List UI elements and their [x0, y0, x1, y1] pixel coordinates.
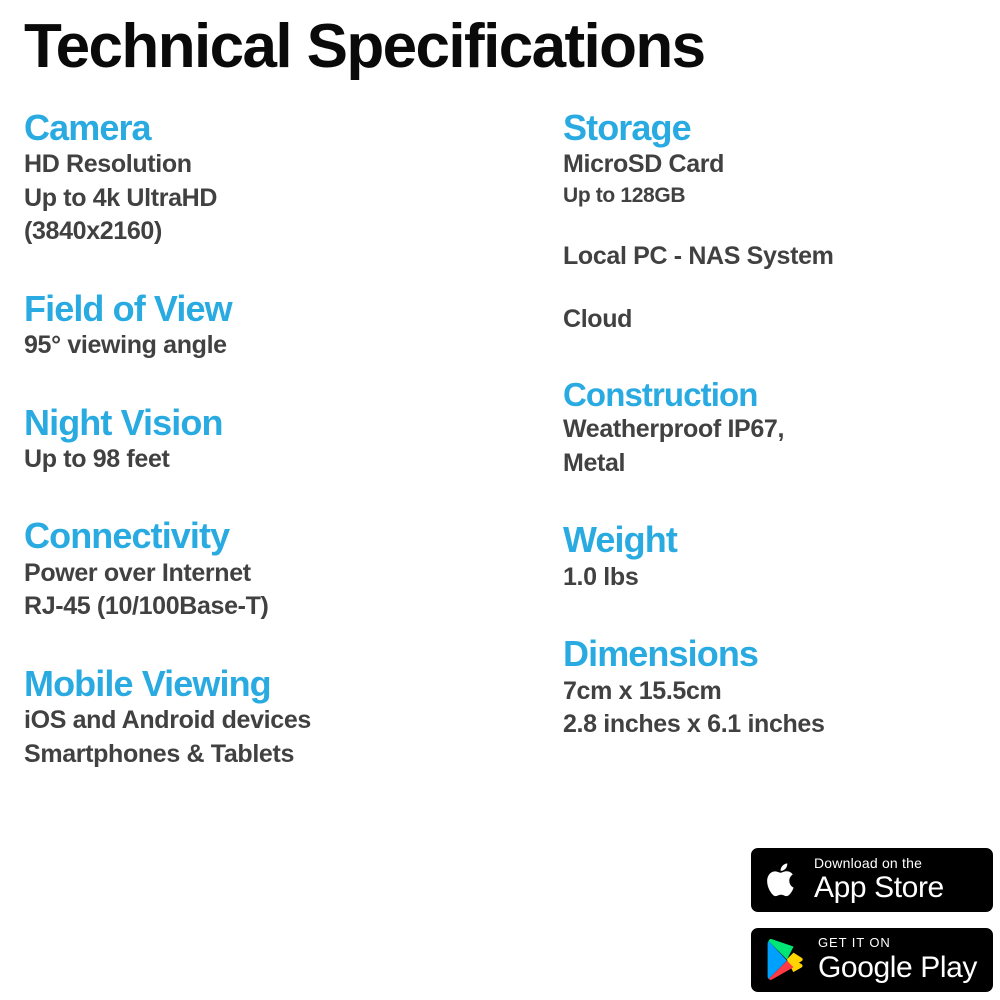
spec-line: Local PC - NAS System: [563, 240, 993, 274]
page-title: Technical Specifications: [24, 14, 705, 79]
spacer: [563, 594, 993, 634]
spec-line: Weatherproof IP67,: [563, 413, 993, 447]
spec-line-sub: Up to 128GB: [563, 182, 993, 210]
spec-line: HD Resolution: [24, 148, 524, 182]
spec-group-mobile-viewing: Mobile Viewing iOS and Android devices S…: [24, 664, 524, 771]
app-store-badge-text: Download on the App Store: [814, 856, 944, 904]
app-store-badge-main-line: App Store: [814, 872, 944, 904]
spec-group-storage: Storage MicroSD Card Up to 128GB Local P…: [563, 108, 993, 337]
spec-line: MicroSD Card: [563, 148, 993, 182]
spec-group-camera: Camera HD Resolution Up to 4k UltraHD (3…: [24, 108, 524, 249]
spec-line: 2.8 inches x 6.1 inches: [563, 708, 993, 742]
left-spec-column: Camera HD Resolution Up to 4k UltraHD (3…: [24, 108, 524, 771]
google-play-badge[interactable]: GET IT ON Google Play: [749, 926, 995, 994]
store-badges: Download on the App Store: [749, 846, 995, 994]
spec-line: Metal: [563, 447, 993, 481]
technical-specifications-page: Technical Specifications Camera HD Resol…: [0, 0, 1000, 1000]
spacer: [563, 273, 993, 303]
spacer: [563, 210, 993, 240]
spacer: [563, 480, 993, 520]
spacer: [24, 476, 524, 516]
spec-line: (3840x2160): [24, 215, 524, 249]
spacer: [24, 249, 524, 289]
spec-group-weight: Weight 1.0 lbs: [563, 520, 993, 594]
google-play-triangle-icon: [765, 938, 805, 982]
spec-line: Power over Internet: [24, 557, 524, 591]
spec-group-dimensions: Dimensions 7cm x 15.5cm 2.8 inches x 6.1…: [563, 634, 993, 741]
spacer: [24, 363, 524, 403]
spec-group-field-of-view: Field of View 95° viewing angle: [24, 289, 524, 363]
spec-line: RJ-45 (10/100Base-T): [24, 590, 524, 624]
app-store-badge-top-line: Download on the: [814, 856, 944, 871]
spec-line: Cloud: [563, 303, 993, 337]
spec-heading-storage: Storage: [563, 108, 993, 148]
spec-heading-camera: Camera: [24, 108, 524, 148]
spec-heading-weight: Weight: [563, 520, 993, 560]
spacer: [563, 337, 993, 377]
spec-line: Up to 98 feet: [24, 443, 524, 477]
spec-heading-connectivity: Connectivity: [24, 516, 524, 556]
spec-heading-mobile-viewing: Mobile Viewing: [24, 664, 524, 704]
spec-heading-field-of-view: Field of View: [24, 289, 524, 329]
google-play-badge-top-line: GET IT ON: [818, 936, 977, 950]
spec-heading-night-vision: Night Vision: [24, 403, 524, 443]
spec-line: Up to 4k UltraHD: [24, 182, 524, 216]
spec-line: iOS and Android devices: [24, 704, 524, 738]
spec-heading-construction: Construction: [563, 377, 993, 414]
spec-group-construction: Construction Weatherproof IP67, Metal: [563, 377, 993, 481]
right-spec-column: Storage MicroSD Card Up to 128GB Local P…: [563, 108, 993, 742]
apple-logo-icon: [765, 858, 801, 902]
google-play-badge-text: GET IT ON Google Play: [818, 936, 977, 983]
spec-group-night-vision: Night Vision Up to 98 feet: [24, 403, 524, 477]
spec-line: 7cm x 15.5cm: [563, 675, 993, 709]
spacer: [24, 624, 524, 664]
spec-group-connectivity: Connectivity Power over Internet RJ-45 (…: [24, 516, 524, 623]
app-store-badge[interactable]: Download on the App Store: [749, 846, 995, 914]
spec-heading-dimensions: Dimensions: [563, 634, 993, 674]
spec-line: Smartphones & Tablets: [24, 738, 524, 772]
spec-line: 95° viewing angle: [24, 329, 524, 363]
google-play-badge-main-line: Google Play: [818, 952, 977, 984]
spec-line: 1.0 lbs: [563, 561, 993, 595]
